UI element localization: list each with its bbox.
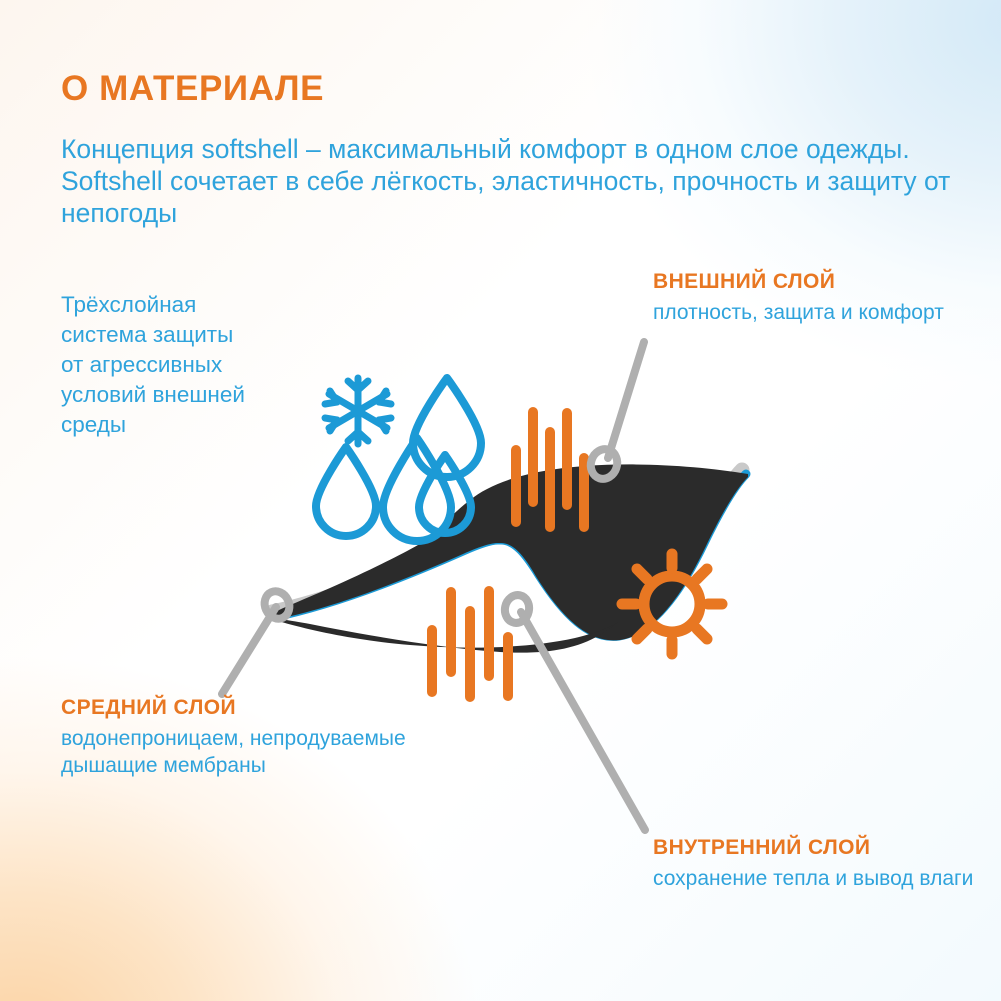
callout-middle-body: водонепроницаем, непродуваемые дышащие м… bbox=[61, 725, 461, 779]
callout-inner-heading: ВНУТРЕННИЙ СЛОЙ bbox=[653, 836, 983, 860]
callout-outer-body: плотность, защита и комфорт bbox=[653, 299, 983, 326]
leader-line-outer bbox=[608, 342, 644, 458]
callout-inner-layer: ВНУТРЕННИЙ СЛОЙ сохранение тепла и вывод… bbox=[653, 836, 983, 892]
callout-middle-layer: СРЕДНИЙ СЛОЙ водонепроницаем, непродувае… bbox=[61, 696, 461, 779]
pin-ring-inner bbox=[502, 593, 531, 625]
fabric-lower-tongue bbox=[268, 618, 618, 653]
page-title: О МАТЕРИАЛЕ bbox=[61, 69, 324, 109]
infographic-canvas: О МАТЕРИАЛЕ Концепция softshell – максим… bbox=[0, 0, 1001, 1001]
leader-line-middle bbox=[222, 607, 276, 694]
heat-bars-icon-lower bbox=[432, 591, 508, 697]
callout-middle-heading: СРЕДНИЙ СЛОЙ bbox=[61, 696, 461, 720]
lead-paragraph: Концепция softshell – максимальный комфо… bbox=[61, 133, 951, 229]
water-droplet-icon bbox=[316, 447, 376, 536]
callout-outer-layer: ВНЕШНИЙ СЛОЙ плотность, защита и комфорт bbox=[653, 270, 983, 326]
callout-outer-heading: ВНЕШНИЙ СЛОЙ bbox=[653, 270, 983, 294]
side-note-text: Трёхслойная система защиты от агрессивны… bbox=[61, 290, 256, 440]
leader-line-inner bbox=[521, 612, 645, 830]
snowflake-icon bbox=[325, 378, 391, 444]
callout-inner-body: сохранение тепла и вывод влаги bbox=[653, 865, 983, 892]
